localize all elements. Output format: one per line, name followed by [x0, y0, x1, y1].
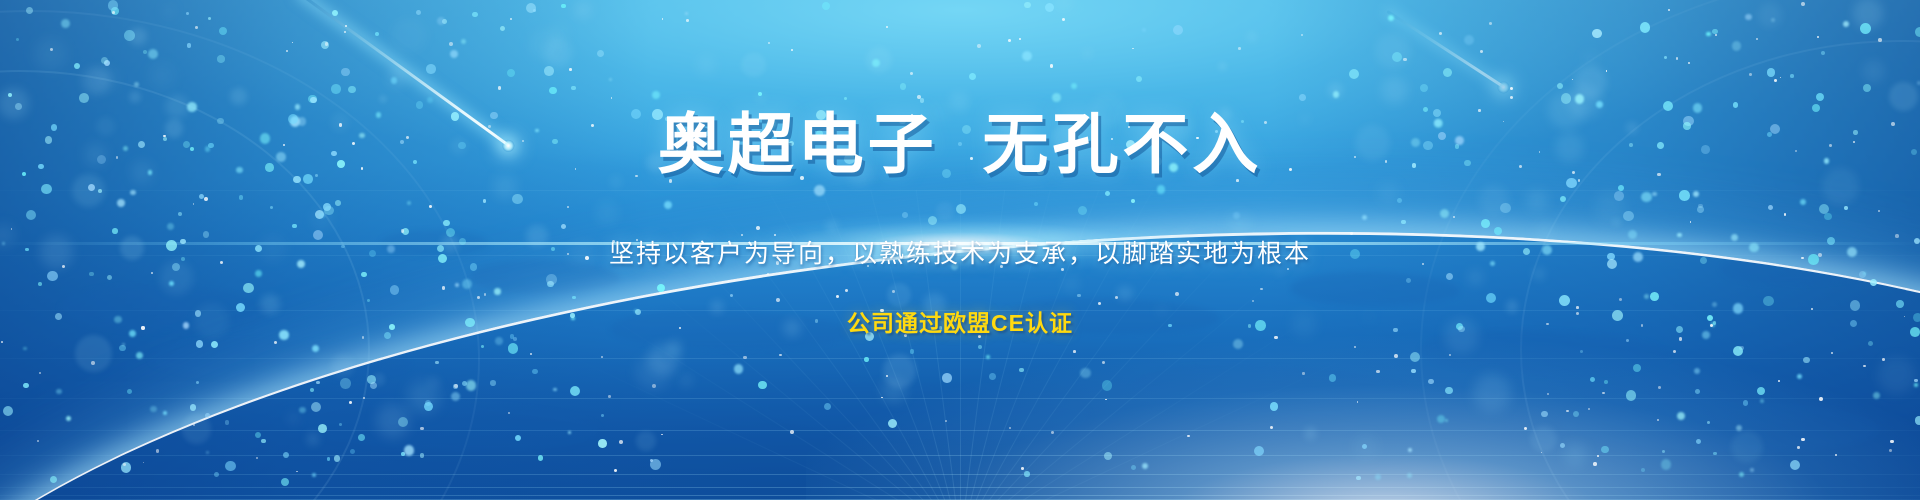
sparkle-dot [611, 97, 613, 99]
particle-dot [1560, 443, 1565, 448]
landmass-shape [900, 244, 1030, 274]
sparkle-dot [50, 48, 54, 52]
particle-dot [283, 452, 290, 459]
bokeh-circle [407, 381, 440, 414]
sparkle-dot [296, 471, 298, 473]
particle-dot [1233, 339, 1243, 349]
particle-dot [217, 55, 224, 62]
particle-dot [1641, 192, 1652, 203]
particle-dot [570, 313, 575, 318]
bokeh-circle [1090, 92, 1125, 127]
particle-dot [350, 449, 356, 455]
particle-dot [1523, 248, 1530, 255]
sparkle-dot [631, 261, 633, 263]
bokeh-circle [1304, 427, 1317, 440]
sparkle-dot [1673, 350, 1676, 353]
bokeh-circle [1062, 275, 1080, 293]
bokeh-circle [826, 220, 839, 233]
sparkle-dot [743, 356, 747, 360]
sparkle-dot [1853, 141, 1855, 143]
sparkle-dot [1503, 121, 1505, 123]
particle-dot [186, 12, 189, 15]
particle-dot [327, 457, 331, 461]
bokeh-circle [1555, 133, 1584, 162]
sparkle-dot [1541, 452, 1543, 454]
sparkle-dot [1350, 232, 1354, 236]
sparkle-dot [1597, 455, 1599, 457]
particle-dot [1455, 144, 1459, 148]
bokeh-circle [120, 236, 144, 260]
particle-dot [1542, 245, 1552, 255]
particle-dot [1541, 411, 1547, 417]
sparkle-dot [1453, 216, 1455, 218]
sparkle-dot [1115, 296, 1118, 299]
sparkle-dot [608, 395, 611, 398]
particle-dot [107, 275, 112, 280]
particle-dot [335, 200, 341, 206]
sparkle-dot [1756, 38, 1758, 40]
sparkle-dot [1062, 18, 1066, 22]
sparkle-dot [62, 265, 65, 268]
sparkle-dot [1831, 352, 1833, 354]
sparkle-dot [193, 203, 195, 205]
sparkle-dot [776, 261, 780, 265]
particle-dot [1153, 157, 1163, 167]
particle-dot [665, 117, 669, 121]
sparkle-dot [1264, 121, 1267, 124]
longitude-line [960, 190, 1173, 500]
particle-dot [1434, 119, 1442, 127]
longitude-line [960, 190, 1219, 500]
sparkle-dot [156, 449, 159, 452]
particle-dot [442, 19, 447, 24]
particle-dot [98, 189, 102, 193]
particle-dot [490, 380, 496, 386]
latitude-line [0, 455, 1920, 456]
particle-dot [758, 381, 766, 389]
particle-dot [367, 299, 370, 302]
sparkle-dot [1572, 79, 1574, 81]
bokeh-circle [698, 57, 714, 73]
particle-dot [295, 104, 301, 110]
particle-dot [1657, 142, 1664, 149]
bokeh-circle [936, 202, 954, 220]
latitude-line [0, 474, 1920, 475]
sparkle-dot [91, 361, 95, 365]
particle-dot [208, 17, 211, 20]
particle-dot [1790, 74, 1794, 78]
particle-dot [685, 12, 688, 15]
particle-dot [1333, 91, 1340, 98]
particle-dot [167, 223, 174, 230]
particle-dot [598, 439, 607, 448]
bokeh-circle [493, 175, 518, 200]
particle-dot [38, 282, 42, 286]
sparkle-dot [1102, 361, 1105, 364]
particle-dot [1590, 377, 1595, 382]
bokeh-circle [72, 174, 105, 207]
particle-dot [568, 431, 571, 434]
particle-dot [1077, 294, 1080, 297]
particle-dot [290, 116, 301, 127]
particle-dot [561, 4, 566, 9]
particle-dot [1248, 324, 1251, 327]
sparkle-dot [892, 290, 895, 293]
particle-dot [303, 174, 313, 184]
sparkle-dot [429, 205, 432, 208]
particle-dot [1824, 213, 1831, 220]
particle-dot [1559, 295, 1570, 306]
bokeh-circle [34, 38, 67, 71]
longitude-line [960, 190, 1123, 500]
particle-dot [942, 169, 951, 178]
particle-dot [1664, 56, 1667, 59]
sparkle-dot [1196, 137, 1199, 140]
sparkle-dot [917, 95, 921, 99]
bokeh-circle [129, 91, 141, 103]
particle-dot [203, 231, 209, 237]
sparkle-dot [1302, 372, 1304, 374]
particle-dot [515, 435, 521, 441]
particle-dot [1736, 425, 1742, 431]
bokeh-circle [40, 235, 73, 268]
bokeh-circle [96, 69, 116, 89]
longitude-line [960, 304, 1332, 500]
sparkle-dot [1690, 221, 1692, 223]
sparkle-dot [454, 384, 458, 388]
particle-dot [1254, 446, 1264, 456]
longitude-line [851, 190, 961, 500]
latitude-line [0, 398, 1920, 399]
particle-dot [1476, 242, 1485, 251]
sparkle-dot [1668, 9, 1671, 12]
bokeh-circle [1247, 32, 1257, 42]
particle-dot [112, 228, 118, 234]
sparkle-dot [274, 341, 277, 344]
particle-dot [1711, 322, 1716, 327]
particle-dot [546, 274, 557, 285]
particle-dot [279, 330, 288, 339]
bokeh-circle [1052, 124, 1079, 151]
landmass-shape [1010, 298, 1220, 334]
sparkle-dot [1098, 302, 1101, 305]
sparkle-dot [1519, 165, 1522, 168]
particle-dot [1915, 416, 1920, 425]
sparkle-dot [601, 356, 603, 358]
particle-dot [1080, 368, 1091, 379]
particle-dot [316, 381, 319, 384]
particle-dot [483, 199, 486, 202]
sparkle-dot [442, 286, 446, 290]
bokeh-circle [1574, 66, 1606, 98]
sparkle-dot [1105, 399, 1107, 401]
particle-dot [1733, 102, 1739, 108]
particle-dot [413, 160, 418, 165]
sparkle-dot [1260, 288, 1263, 291]
sparkle-dot [686, 19, 689, 22]
particle-dot [15, 103, 22, 110]
particle-dot [427, 97, 433, 103]
particle-dot [1695, 389, 1700, 394]
particle-dot [205, 146, 211, 152]
bokeh-circle [1375, 33, 1411, 69]
sparkle-dot [1175, 292, 1179, 296]
particle-dot [1443, 68, 1453, 78]
particle-dot [962, 125, 972, 135]
sparkle-dot [945, 420, 947, 422]
particle-dot [1743, 400, 1749, 406]
lens-flare-icon [0, 242, 1920, 245]
particle-dot [888, 419, 897, 428]
particle-dot [1411, 369, 1415, 373]
particle-dot [119, 345, 126, 352]
particle-dot [1770, 124, 1780, 134]
sparkle-dot [1539, 151, 1541, 153]
particle-dot [631, 109, 641, 119]
particle-dot [130, 190, 136, 196]
particle-dot [1706, 32, 1710, 36]
particle-dot [459, 238, 466, 245]
particle-dot [1712, 302, 1717, 307]
sparkle-dot [1449, 354, 1451, 356]
particle-dot [1438, 132, 1446, 140]
landmass-shape [60, 286, 270, 332]
bokeh-circle [391, 18, 426, 53]
sparkle-dot [1818, 253, 1822, 257]
sparkle-dot [790, 430, 794, 434]
particle-dot [650, 459, 653, 462]
particle-dot [451, 112, 459, 120]
sparkle-dot [1619, 298, 1622, 301]
particle-dot [1486, 293, 1496, 303]
sparkle-dot [1480, 50, 1483, 53]
landmass-shape [1180, 230, 1300, 256]
particle-dot [1456, 323, 1464, 331]
sparkle-dot [774, 234, 776, 236]
sparkle-dot [508, 412, 510, 414]
sparkle-dot [779, 354, 782, 357]
decorative-ring [0, 10, 480, 500]
sparkle-dot [1236, 179, 1239, 182]
sparkle-dot [741, 234, 743, 236]
bokeh-circle [1535, 221, 1555, 241]
particle-dot [1863, 272, 1866, 275]
particle-dot [1362, 215, 1367, 220]
particle-dot [814, 185, 825, 196]
particle-dot [180, 239, 185, 244]
sparkle-dot [401, 229, 405, 233]
particle-dot [129, 330, 136, 337]
particle-dot [510, 334, 514, 338]
banner-headline: 奥超电子 无孔不入 [658, 108, 1263, 182]
landmass-shape [300, 400, 600, 452]
particle-dot [1375, 474, 1381, 480]
sparkle-dot [1061, 268, 1064, 271]
sparkle-dot [1780, 77, 1782, 79]
particle-dot [466, 380, 477, 391]
bokeh-circle [0, 88, 29, 119]
sparkle-dot [1578, 179, 1581, 182]
particle-dot [1683, 122, 1691, 130]
particle-dot [424, 402, 433, 411]
sparkle-dot [339, 123, 343, 127]
particle-dot [481, 345, 484, 348]
particle-dot [872, 59, 880, 67]
particle-dot [1844, 206, 1848, 210]
particle-dot [1102, 380, 1113, 391]
particle-dot [1808, 254, 1819, 265]
sparkle-dot [836, 295, 839, 298]
particle-dot [734, 364, 743, 373]
particle-dot [1850, 320, 1857, 327]
particle-dot [500, 26, 505, 31]
particle-dot [1433, 109, 1441, 117]
sparkle-dot [1863, 365, 1866, 368]
bokeh-circle [1473, 374, 1511, 412]
particle-dot [1790, 460, 1800, 470]
sparkle-dot [220, 261, 224, 265]
particle-dot [1607, 259, 1617, 269]
particle-dot [1915, 27, 1920, 37]
particle-dot [942, 373, 952, 383]
particle-dot [1034, 202, 1038, 206]
particle-dot [331, 84, 340, 93]
bokeh-circle [883, 354, 917, 388]
sparkle-dot [1811, 308, 1813, 310]
particle-dot [1679, 190, 1690, 201]
sparkle-dot [1657, 173, 1660, 176]
particle-dot [986, 355, 990, 359]
particle-dot [1494, 227, 1502, 235]
particle-dot [490, 112, 497, 119]
sparkle-dot [1889, 449, 1892, 452]
particle-dot [1800, 199, 1806, 205]
particle-dot [187, 102, 197, 112]
bokeh-circle [1082, 48, 1093, 59]
particle-dot [571, 317, 575, 321]
particle-dot [255, 432, 261, 438]
particle-dot [276, 152, 286, 162]
bokeh-circle [648, 343, 680, 375]
particle-dot [1560, 196, 1566, 202]
bokeh-circle [548, 25, 567, 44]
bokeh-circle [849, 161, 874, 186]
bokeh-circle [1467, 269, 1484, 286]
longitude-line [621, 259, 961, 500]
particle-dot [315, 174, 318, 177]
particle-dot [1663, 101, 1673, 111]
sparkle-dot [635, 175, 638, 178]
globe-arc-icon [0, 154, 1920, 500]
particle-dot [1640, 22, 1651, 33]
particle-dot [1812, 104, 1820, 112]
particle-dot [910, 349, 915, 354]
particle-dot [38, 164, 43, 169]
particle-dot [1601, 446, 1609, 454]
sparkle-dot [886, 375, 888, 377]
sparkle-dot [1187, 435, 1190, 438]
particle-dot [26, 7, 33, 14]
particle-dot [1910, 327, 1920, 337]
sparkle-dot [510, 18, 512, 20]
particle-dot [391, 77, 397, 83]
particle-dot [508, 343, 518, 353]
longitude-line [701, 190, 960, 500]
particle-dot [864, 357, 869, 362]
particle-dot [462, 381, 467, 386]
particle-dot [1445, 419, 1448, 422]
bokeh-circle [1731, 431, 1763, 463]
particle-dot [1650, 292, 1659, 301]
particle-dot [1349, 69, 1359, 79]
particle-dot [311, 402, 321, 412]
particle-dot [1693, 103, 1703, 113]
sparkle-dot [1287, 268, 1289, 270]
particle-dot [265, 163, 273, 171]
particle-dot [358, 434, 365, 441]
decorative-ring [1520, 40, 1920, 500]
particle-dot [89, 272, 94, 277]
particle-dot [239, 195, 244, 200]
particle-dot [387, 245, 395, 253]
bokeh-circle [1117, 286, 1133, 302]
particle-dot [1423, 141, 1433, 151]
particle-dot [401, 452, 405, 456]
bokeh-circle [1564, 443, 1588, 467]
particle-dot [1596, 101, 1603, 108]
particle-dot [97, 155, 106, 164]
particle-dot [1410, 352, 1420, 362]
particle-dot [1329, 374, 1336, 381]
particle-dot [1168, 324, 1172, 328]
particle-dot [122, 343, 125, 346]
sparkle-dot [768, 42, 770, 44]
particle-dot [1434, 119, 1443, 128]
particle-dot [270, 206, 273, 209]
bokeh-circle [165, 119, 184, 138]
bokeh-circle [949, 92, 968, 111]
particle-dot [1045, 3, 1054, 12]
particle-dot [88, 184, 95, 191]
particle-dot [1847, 247, 1857, 257]
particle-dot [196, 381, 200, 385]
sparkle-dot [143, 462, 145, 464]
bokeh-circle [710, 300, 724, 314]
particle-dot [261, 439, 266, 444]
particle-dot [526, 3, 536, 13]
longitude-line [960, 352, 1359, 500]
particle-dot [169, 281, 175, 287]
particle-dot [1299, 94, 1306, 101]
bokeh-circle [82, 67, 110, 95]
particle-dot [26, 210, 36, 220]
particle-dot [416, 101, 424, 109]
particle-dot [547, 281, 553, 287]
particle-dot [2, 242, 5, 245]
particle-dot [958, 142, 962, 146]
particle-dot [513, 337, 517, 341]
sparkle-dot [1289, 168, 1292, 171]
sparkle-dot [488, 125, 491, 128]
bokeh-circle [1163, 230, 1200, 267]
bokeh-circle [182, 414, 212, 444]
particle-dot [292, 224, 297, 229]
sparkle-dot [1403, 58, 1407, 62]
particle-dot [978, 345, 982, 349]
particle-dot [123, 146, 128, 151]
sparkle-dot [1270, 426, 1273, 429]
particle-dot [1575, 94, 1585, 104]
